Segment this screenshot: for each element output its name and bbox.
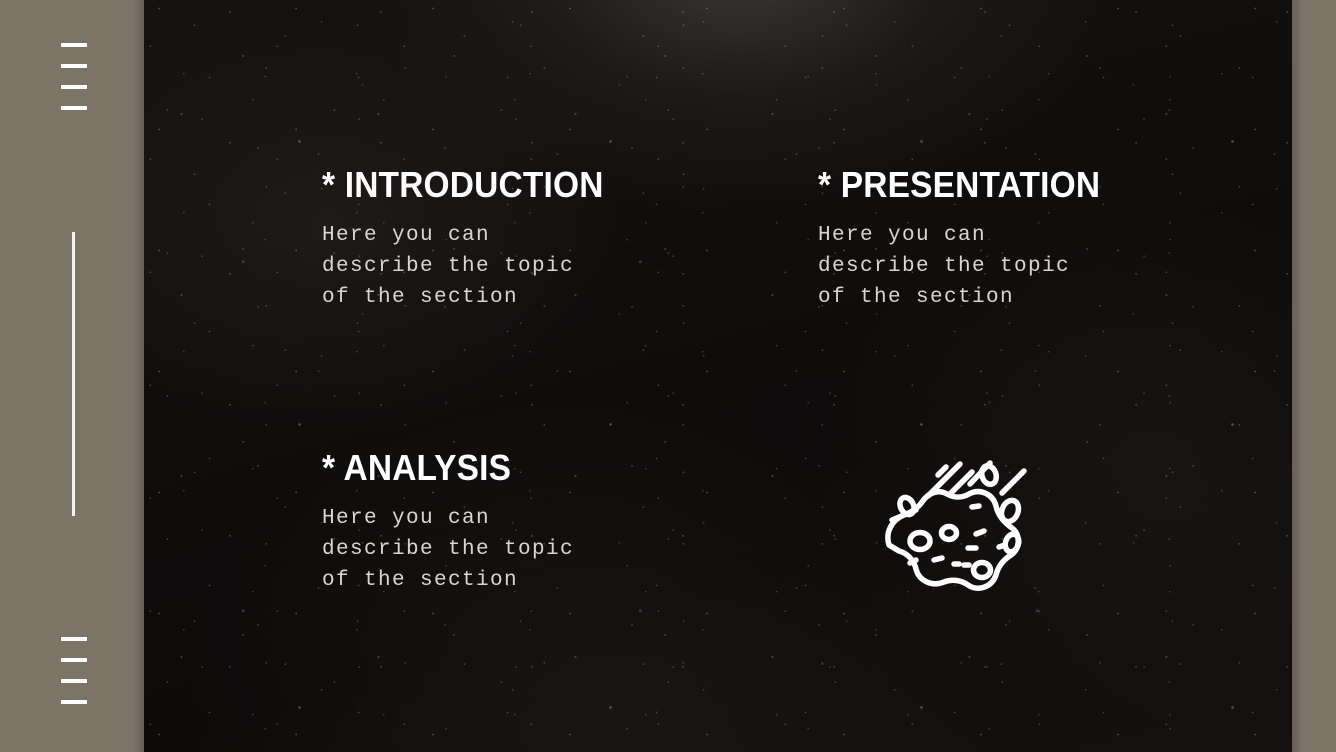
starfield-background bbox=[144, 0, 1292, 752]
content-block-analysis: * ANALYSIS Here you can describe the top… bbox=[322, 447, 574, 596]
block-body-analysis: Here you can describe the topic of the s… bbox=[322, 503, 574, 596]
right-frame-strip bbox=[1292, 0, 1336, 752]
sidebar-edge-shadow bbox=[134, 0, 144, 752]
dash-mark bbox=[61, 679, 87, 683]
dash-mark bbox=[61, 64, 87, 68]
block-body-introduction: Here you can describe the topic of the s… bbox=[322, 220, 625, 313]
block-title-introduction: * INTRODUCTION bbox=[322, 164, 604, 206]
slide-canvas: * INTRODUCTION Here you can describe the… bbox=[0, 0, 1336, 752]
dash-mark bbox=[61, 85, 87, 89]
dash-mark bbox=[61, 106, 87, 110]
content-block-introduction: * INTRODUCTION Here you can describe the… bbox=[322, 164, 625, 313]
dash-group-top bbox=[61, 43, 91, 110]
dash-mark bbox=[61, 43, 87, 47]
left-sidebar bbox=[0, 0, 144, 752]
block-title-analysis: * ANALYSIS bbox=[322, 447, 556, 489]
dash-mark bbox=[61, 637, 87, 641]
vertical-accent-line bbox=[72, 232, 75, 516]
star-layer-bright bbox=[144, 0, 1292, 752]
right-strip-shadow bbox=[1292, 0, 1302, 752]
dash-mark bbox=[61, 700, 87, 704]
content-block-presentation: * PRESENTATION Here you can describe the… bbox=[818, 164, 1122, 313]
dash-group-bottom bbox=[61, 637, 91, 704]
dash-mark bbox=[61, 658, 87, 662]
block-body-presentation: Here you can describe the topic of the s… bbox=[818, 220, 1122, 313]
block-title-presentation: * PRESENTATION bbox=[818, 164, 1100, 206]
asteroid-icon bbox=[872, 448, 1042, 598]
